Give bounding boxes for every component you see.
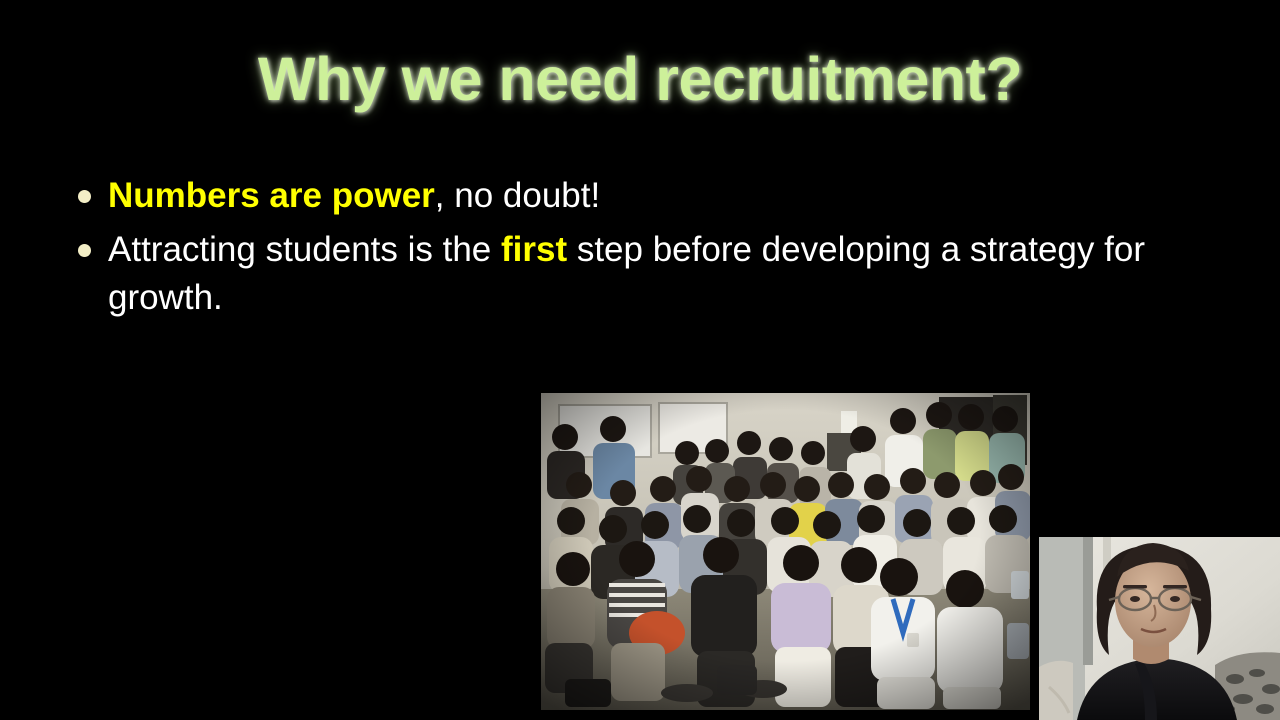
presenter-webcam-video[interactable] bbox=[1039, 537, 1280, 720]
slide-title: Why we need recruitment? bbox=[0, 44, 1280, 114]
presentation-slide: Why we need recruitment? Numbers are pow… bbox=[0, 0, 1280, 720]
round-bullet-icon bbox=[78, 244, 91, 257]
bullet-list: Numbers are power, no doubt! Attracting … bbox=[70, 172, 1180, 328]
presenter-webcam-image bbox=[1039, 537, 1280, 720]
group-photo bbox=[541, 393, 1030, 710]
round-bullet-icon bbox=[78, 190, 91, 203]
group-photo-image bbox=[541, 393, 1030, 710]
bullet-2-emphasis: first bbox=[501, 230, 567, 269]
bullet-2-lead: Attracting students is the bbox=[108, 230, 501, 269]
bullet-1-tail: , no doubt! bbox=[435, 176, 600, 215]
bullet-item-2: Attracting students is the first step be… bbox=[70, 226, 1180, 322]
bullet-item-1: Numbers are power, no doubt! bbox=[70, 172, 1180, 220]
bullet-1-emphasis: Numbers are power bbox=[108, 176, 435, 215]
